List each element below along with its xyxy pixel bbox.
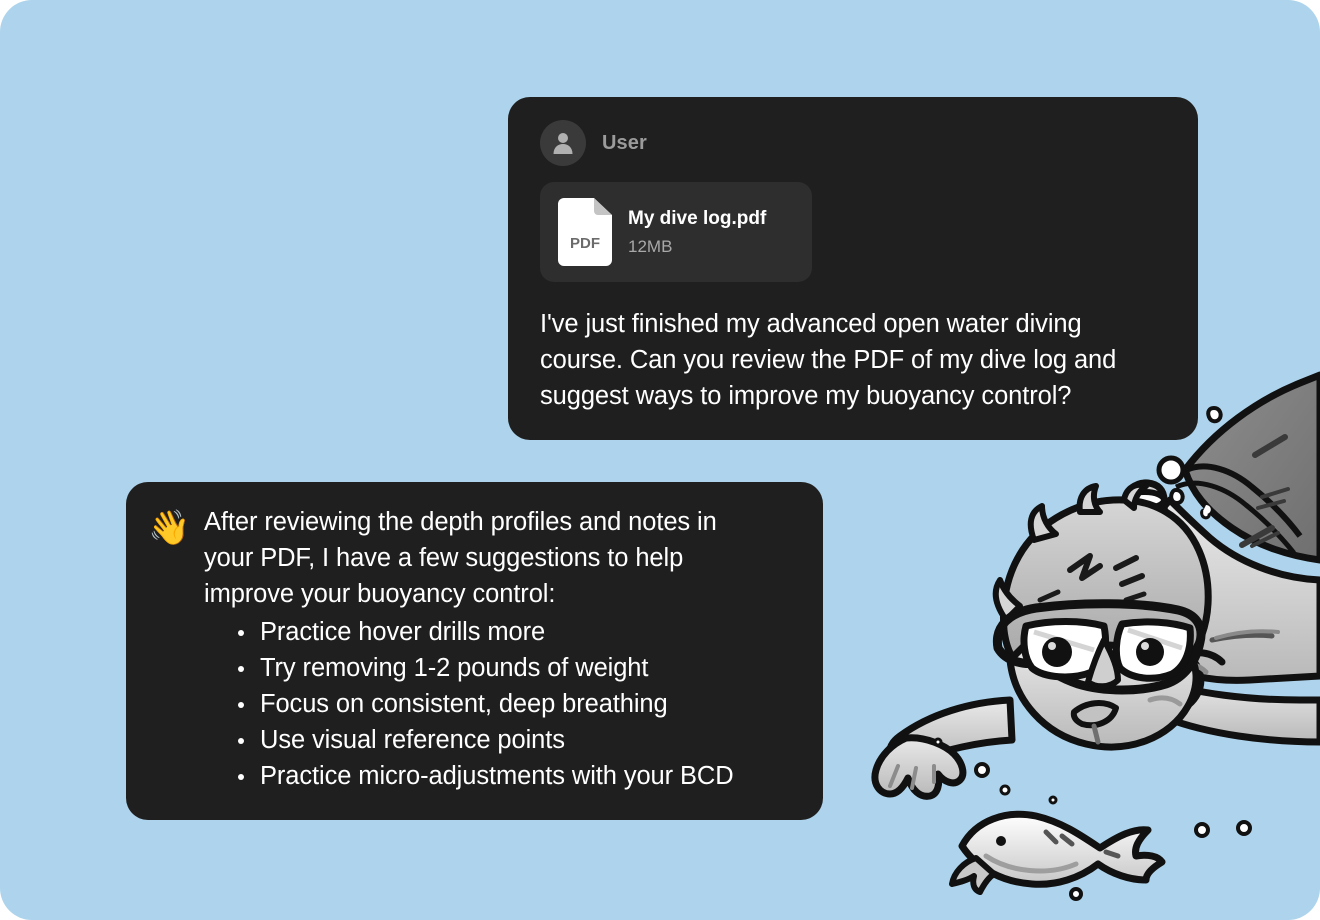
- user-message-header: User: [536, 120, 1170, 166]
- diver-neck: [1073, 646, 1206, 720]
- assistant-paragraph: After reviewing the depth profiles and n…: [204, 504, 764, 612]
- diver-left-arm: [875, 700, 1012, 796]
- list-item: Try removing 1-2 pounds of weight: [260, 650, 797, 686]
- bubbles: [935, 390, 1250, 899]
- assistant-suggestions-list: Practice hover drills more Try removing …: [148, 614, 797, 794]
- waving-hand-emoji: 👋: [148, 504, 204, 548]
- fish: [952, 814, 1162, 892]
- pdf-file-icon: PDF: [558, 198, 612, 266]
- list-item: Practice micro-adjustments with your BCD: [260, 758, 797, 794]
- user-message-text: I've just finished my advanced open wate…: [540, 306, 1170, 414]
- list-item: Practice hover drills more: [260, 614, 797, 650]
- screen-root: User PDF My dive log.pdf 12MB I've just …: [0, 0, 1320, 920]
- user-message-bubble: User PDF My dive log.pdf 12MB I've just …: [508, 97, 1198, 440]
- user-sender-label: User: [602, 132, 647, 155]
- snorkel: [1126, 483, 1170, 719]
- pdf-icon-label: PDF: [570, 235, 600, 252]
- list-item: Use visual reference points: [260, 722, 797, 758]
- file-size-label: 12MB: [628, 237, 766, 257]
- file-name-label: My dive log.pdf: [628, 208, 766, 230]
- diver-head: [996, 485, 1222, 747]
- list-item: Focus on consistent, deep breathing: [260, 686, 797, 722]
- assistant-intro-row: 👋 After reviewing the depth profiles and…: [148, 504, 797, 612]
- file-attachment-card[interactable]: PDF My dive log.pdf 12MB: [540, 182, 812, 282]
- file-attachment-meta: My dive log.pdf 12MB: [628, 208, 766, 257]
- assistant-message-bubble: 👋 After reviewing the depth profiles and…: [126, 482, 823, 820]
- user-avatar-icon: [540, 120, 586, 166]
